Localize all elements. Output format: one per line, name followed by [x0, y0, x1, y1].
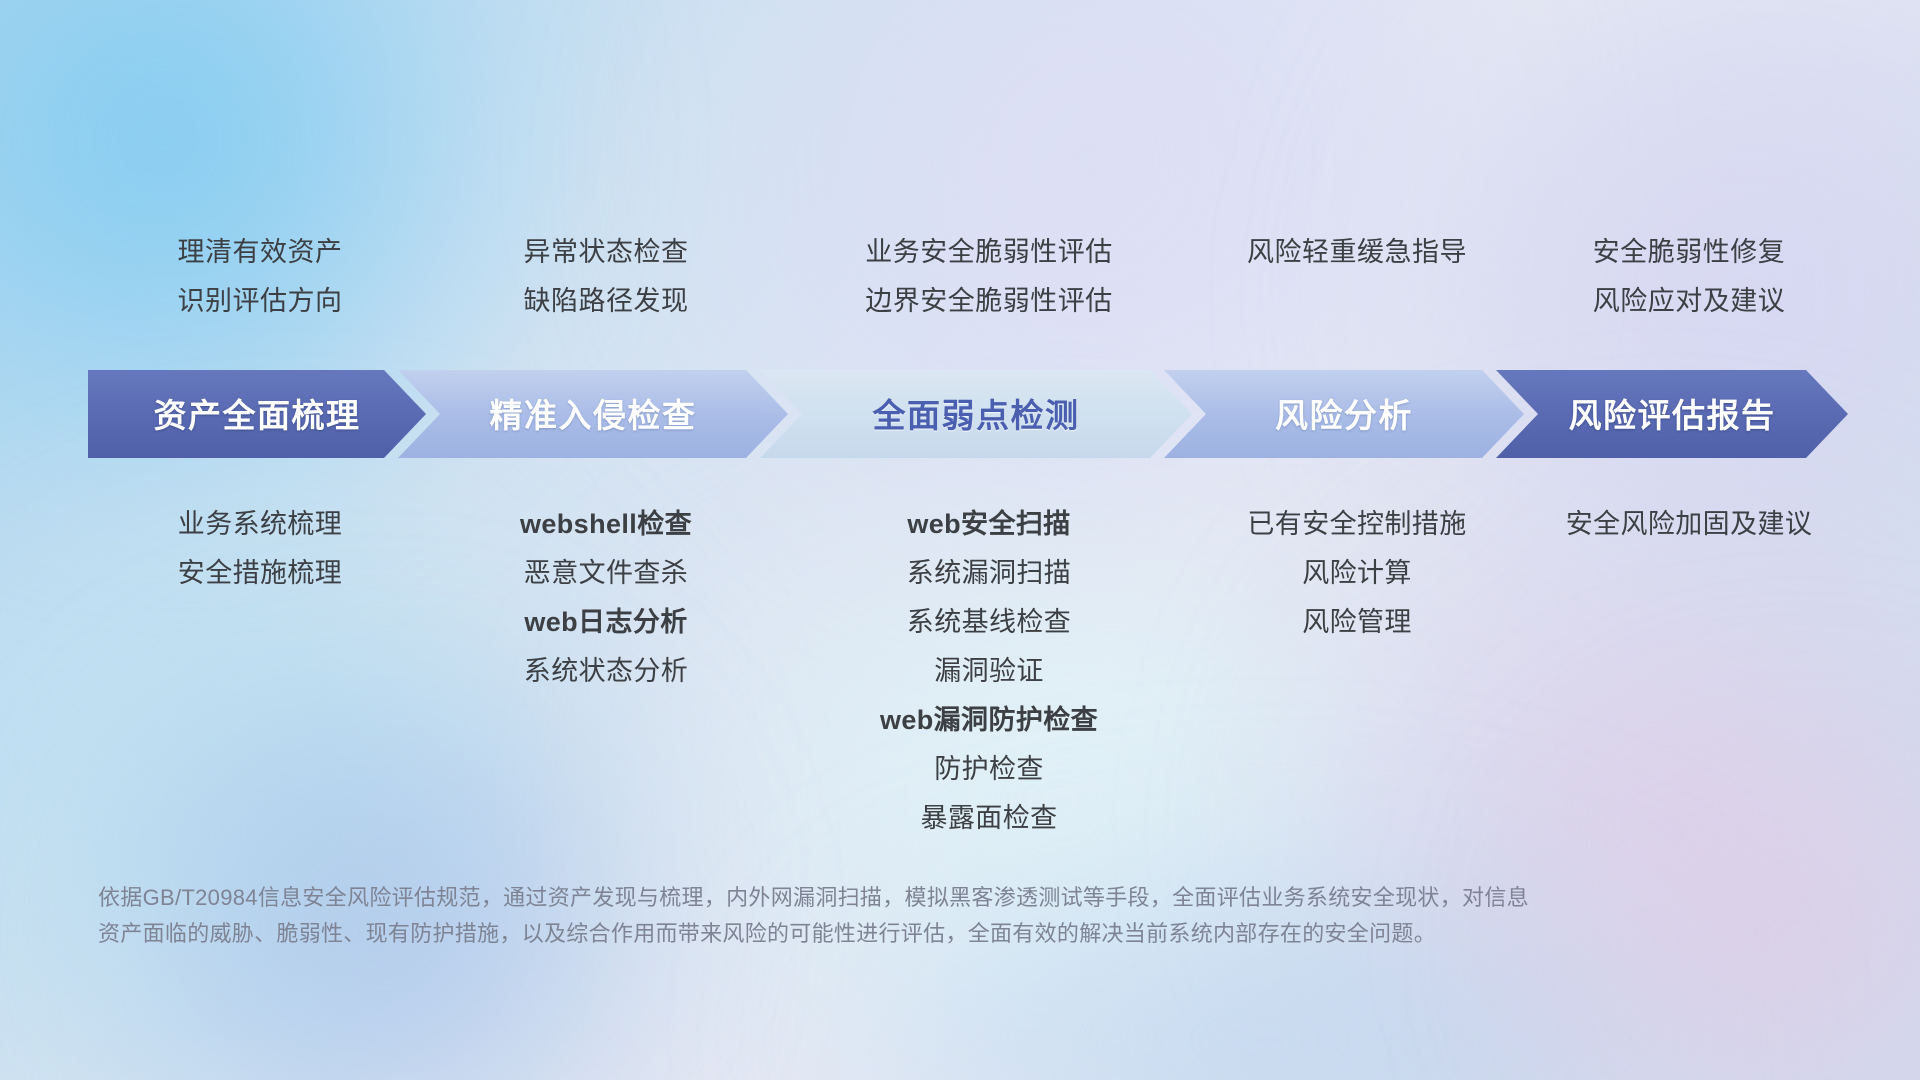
diagram-content: 理清有效资产识别评估方向异常状态检查缺陷路径发现业务安全脆弱性评估边界安全脆弱性… [0, 0, 1920, 1080]
stage-outcome-line: 异常状态检查 [425, 228, 787, 277]
stage-outcomes-row: 理清有效资产识别评估方向异常状态检查缺陷路径发现业务安全脆弱性评估边界安全脆弱性… [95, 228, 1855, 326]
process-stage-title: 资产全面梳理 [154, 389, 361, 437]
stage-activity-item: 风险计算 [1191, 549, 1523, 598]
stage-activity-item: 防护检查 [787, 745, 1191, 794]
stage-outcome-line: 识别评估方向 [95, 277, 425, 326]
process-stage-chevron[interactable]: 风险分析 [1164, 370, 1524, 458]
stage-activity-item: 风险管理 [1191, 598, 1523, 647]
stage-activity-item: 业务系统梳理 [95, 500, 425, 549]
process-stage-title: 全面弱点检测 [873, 389, 1080, 437]
stage-activity-cell: 安全风险加固及建议 [1523, 500, 1855, 549]
process-stage-title: 精准入侵检查 [490, 389, 697, 437]
stage-outcome-line: 业务安全脆弱性评估 [787, 228, 1191, 277]
stage-outcome-cell: 安全脆弱性修复风险应对及建议 [1523, 228, 1855, 326]
stage-outcome-cell: 风险轻重缓急指导 [1191, 228, 1523, 326]
footer-line-2: 资产面临的威胁、脆弱性、现有防护措施，以及综合作用而带来风险的可能性进行评估，全… [98, 916, 1658, 952]
stage-activity-item: 暴露面检查 [787, 794, 1191, 843]
stage-activity-item: 已有安全控制措施 [1191, 500, 1523, 549]
process-stage-title: 风险分析 [1275, 389, 1413, 437]
stage-outcome-cell: 业务安全脆弱性评估边界安全脆弱性评估 [787, 228, 1191, 326]
process-stage-chevron[interactable]: 全面弱点检测 [760, 370, 1192, 458]
footer-note: 依据GB/T20984信息安全风险评估规范，通过资产发现与梳理，内外网漏洞扫描，… [98, 880, 1658, 952]
stage-activity-cell: webshell检查恶意文件查杀web日志分析系统状态分析 [425, 500, 787, 696]
stage-activity-item: 漏洞验证 [787, 647, 1191, 696]
stage-activity-cell: web安全扫描系统漏洞扫描系统基线检查漏洞验证web漏洞防护检查防护检查暴露面检… [787, 500, 1191, 843]
stage-activity-item: 系统状态分析 [425, 647, 787, 696]
process-stage-title: 风险评估报告 [1569, 389, 1776, 437]
stage-outcome-cell: 理清有效资产识别评估方向 [95, 228, 425, 326]
stage-activity-item: web日志分析 [425, 598, 787, 647]
stage-outcome-line: 边界安全脆弱性评估 [787, 277, 1191, 326]
footer-line-1: 依据GB/T20984信息安全风险评估规范，通过资产发现与梳理，内外网漏洞扫描，… [98, 880, 1658, 916]
stage-activity-item: 安全措施梳理 [95, 549, 425, 598]
stage-activity-cell: 已有安全控制措施风险计算风险管理 [1191, 500, 1523, 647]
stage-outcome-line: 理清有效资产 [95, 228, 425, 277]
stage-outcome-line: 安全脆弱性修复 [1523, 228, 1855, 277]
slide-canvas: 理清有效资产识别评估方向异常状态检查缺陷路径发现业务安全脆弱性评估边界安全脆弱性… [0, 0, 1920, 1080]
stage-outcome-line: 风险轻重缓急指导 [1191, 228, 1523, 277]
process-chevron-band: 资产全面梳理精准入侵检查全面弱点检测风险分析风险评估报告 [88, 370, 1848, 458]
stage-activity-item: 系统基线检查 [787, 598, 1191, 647]
stage-activity-cell: 业务系统梳理安全措施梳理 [95, 500, 425, 598]
stage-outcome-line: 缺陷路径发现 [425, 277, 787, 326]
process-stage-chevron[interactable]: 资产全面梳理 [88, 370, 426, 458]
stage-outcome-cell: 异常状态检查缺陷路径发现 [425, 228, 787, 326]
stage-activity-item: 安全风险加固及建议 [1523, 500, 1855, 549]
stage-outcome-line: 风险应对及建议 [1523, 277, 1855, 326]
process-stage-chevron[interactable]: 精准入侵检查 [398, 370, 788, 458]
stage-activity-item: 恶意文件查杀 [425, 549, 787, 598]
process-stage-chevron[interactable]: 风险评估报告 [1496, 370, 1848, 458]
stage-activities-row: 业务系统梳理安全措施梳理webshell检查恶意文件查杀web日志分析系统状态分… [95, 500, 1855, 843]
stage-activity-item: web漏洞防护检查 [787, 696, 1191, 745]
stage-activity-item: webshell检查 [425, 500, 787, 549]
stage-activity-item: web安全扫描 [787, 500, 1191, 549]
stage-activity-item: 系统漏洞扫描 [787, 549, 1191, 598]
